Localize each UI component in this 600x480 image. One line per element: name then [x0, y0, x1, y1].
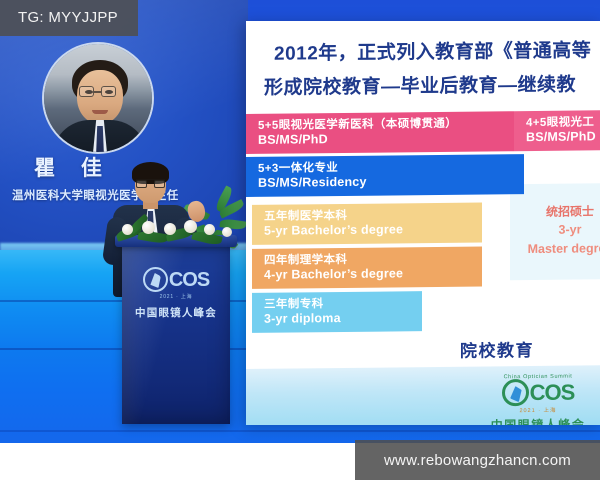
- flower-bloom: [122, 224, 133, 235]
- program-bar-en: BS/MS/PhD: [258, 130, 504, 148]
- program-bar-en: 5-yr Bachelor’s degree: [264, 222, 472, 239]
- speaker-lens-right: [154, 180, 165, 188]
- program-bar-4plus5: 4+5眼视光工 BS/MS/PhD: [514, 110, 600, 151]
- podium-logo: COS 2021 · 上海 中国眼镜人峰会: [128, 267, 224, 320]
- slide-headline-line2: 形成院校教育—毕业后教育—继续教: [264, 69, 600, 100]
- slide-logo-row: COS: [474, 378, 600, 406]
- podium-logo-year: 2021 · 上海: [128, 293, 224, 300]
- program-bar-5yr-bachelor: 五年制医学本科 5-yr Bachelor’s degree: [252, 203, 482, 246]
- flower-bloom: [222, 227, 232, 237]
- presentation-slide: 2012年，正式列入教育部《普通高等 形成院校教育—毕业后教育—继续教 5+5眼…: [246, 21, 600, 425]
- program-bar-en: BS/MS/PhD: [526, 129, 600, 145]
- program-bar-en: 3-yr diploma: [264, 310, 412, 327]
- podium-flower-arrangement: [112, 212, 242, 248]
- conference-photo: 瞿 佳 温州医科大学眼视光医学部主任 COS: [0, 0, 600, 480]
- podium: COS 2021 · 上海 中国眼镜人峰会: [120, 235, 232, 433]
- podium-logo-cos: COS: [169, 270, 209, 290]
- slide-content: 2012年，正式列入教育部《普通高等 形成院校教育—毕业后教育—继续教 5+5眼…: [246, 21, 600, 425]
- podium-logo-cn: 中国眼镜人峰会: [128, 305, 224, 320]
- watermark-bottom-right: www.rebowangzhancn.com: [355, 440, 600, 480]
- portrait-glasses-lens-right: [101, 86, 116, 97]
- podium-logo-row: COS: [128, 267, 224, 292]
- portrait-face: [77, 70, 123, 124]
- slide-headline-line1: 2012年，正式列入教育部《普通高等: [274, 35, 600, 66]
- flower-bloom: [184, 220, 197, 233]
- eye-ring-icon: [502, 379, 529, 406]
- master-degree-cn: 统招硕士: [518, 203, 600, 221]
- program-bar-5plus3: 5+3一体化专业 BS/MS/Residency: [246, 154, 524, 197]
- master-degree-en2: Master degree: [518, 239, 600, 258]
- slide-logo-year: 2021 · 上海: [474, 405, 600, 414]
- portrait-glasses-bridge: [94, 91, 101, 93]
- watermark-top-left: TG: MYYJJPP: [0, 0, 138, 36]
- slide-logo-cos: COS: [530, 381, 575, 403]
- master-degree-en1: 3-yr: [518, 220, 600, 239]
- speaker-glasses: [136, 179, 165, 187]
- program-bar-3yr-diploma: 三年制专科 3-yr diploma: [252, 291, 422, 333]
- program-bar-4yr-bachelor: 四年制理学本科 4-yr Bachelor’s degree: [252, 247, 482, 290]
- flower-bloom: [204, 224, 215, 235]
- program-bar-5plus5: 5+5眼视光医学新医科（本硕博贯通） BS/MS/PhD: [246, 111, 514, 154]
- speaker-lens-left: [136, 180, 147, 188]
- slide-footer-label: 院校教育: [460, 336, 534, 362]
- speaker-portrait-photo: [42, 42, 154, 154]
- flower-bloom: [164, 223, 176, 235]
- portrait-glasses-lens-left: [79, 86, 94, 97]
- master-degree-column: 统招硕士 3-yr Master degree: [518, 203, 600, 258]
- slide-summit-logo: China Optician Summit COS 2021 · 上海 中国眼镜…: [474, 373, 600, 425]
- program-bar-cn: 三年制专科: [264, 296, 412, 312]
- stage-seam-line: [0, 430, 600, 432]
- flower-bloom: [142, 221, 155, 234]
- slide-logo-cn: 中国眼镜人峰会: [474, 415, 600, 425]
- program-bar-cn: 4+5眼视光工: [526, 115, 600, 130]
- program-bar-en: 4-yr Bachelor’s degree: [264, 266, 472, 283]
- portrait-mouth: [92, 110, 108, 114]
- program-bar-en: BS/MS/Residency: [258, 173, 514, 191]
- eye-ring-icon: [143, 267, 168, 292]
